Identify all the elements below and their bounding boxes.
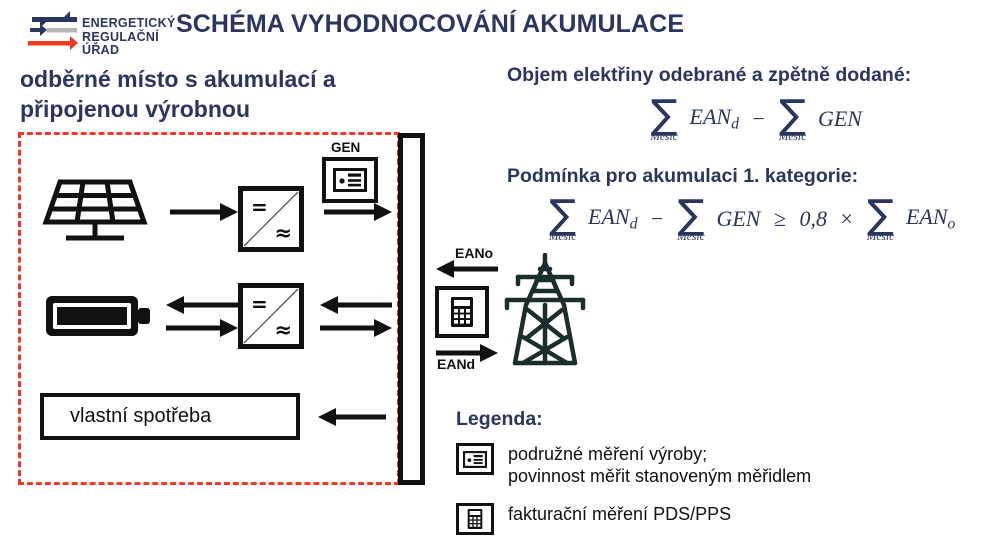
sum-sigma-glyph: ∑ bbox=[779, 95, 806, 135]
ean-o-base: EAN bbox=[906, 204, 948, 229]
inverter-dc-symbol: = bbox=[251, 195, 268, 219]
volume-heading: Objem elektřiny odebrané a zpětně dodané… bbox=[507, 64, 911, 87]
term-ean-d: EANd bbox=[687, 104, 742, 133]
legend-item-label: podružné měření výroby; povinnost měřit … bbox=[508, 443, 811, 487]
ean-d-base: EAN bbox=[588, 204, 630, 229]
condition-heading: Podmínka pro akumulaci 1. kategorie: bbox=[507, 165, 858, 188]
gen-label: GEN bbox=[331, 140, 360, 155]
ean-d-subscript: d bbox=[731, 116, 739, 133]
sum-symbol: ∑ Měsíc bbox=[647, 97, 681, 141]
legend-item-label: fakturační měření PDS/PPS bbox=[508, 503, 731, 525]
logo-line-1: ENERGETICKÝ bbox=[82, 17, 176, 31]
solar-panel-icon bbox=[40, 178, 150, 246]
connection-point-bar bbox=[398, 133, 425, 485]
diagram-heading: odběrné místo s akumulací a připojenou v… bbox=[20, 64, 440, 124]
eru-logo: ENERGETICKÝ REGULAČNÍ ÚŘAD bbox=[14, 8, 164, 56]
formula-volume: ∑ Měsíc EANd − ∑ Měsíc GEN bbox=[647, 97, 865, 141]
sum-sigma-glyph: ∑ bbox=[867, 195, 894, 235]
logo-line-2: REGULAČNÍ bbox=[82, 31, 176, 45]
own-consumption-label: vlastní spotřeba bbox=[70, 405, 211, 428]
slide-canvas: ENERGETICKÝ REGULAČNÍ ÚŘAD SCHÉMA VYHODN… bbox=[0, 0, 1000, 544]
sum-subscript: Měsíc bbox=[677, 231, 704, 243]
operator-minus: − bbox=[748, 106, 770, 132]
term-ean-d: EANd bbox=[585, 204, 640, 233]
legend-item-submeter: podružné měření výroby; povinnost měřit … bbox=[456, 443, 811, 487]
inverter-dc-symbol: = bbox=[251, 292, 268, 316]
submeter-icon bbox=[456, 443, 494, 475]
coefficient-value: 0,8 bbox=[797, 206, 831, 232]
battery-icon bbox=[44, 292, 152, 340]
billing-meter-icon bbox=[456, 503, 494, 535]
arrows-battery-inverter bbox=[164, 293, 240, 339]
legend-title: Legenda: bbox=[456, 408, 543, 431]
legend-item-billing-meter: fakturační měření PDS/PPS bbox=[456, 503, 731, 535]
operator-minus: − bbox=[646, 206, 668, 232]
inverter-pv-icon: = ≈ bbox=[238, 186, 304, 252]
calculator-glyph bbox=[467, 508, 483, 530]
arrow-inverter-to-grid bbox=[322, 200, 394, 224]
transmission-tower-icon bbox=[497, 253, 593, 368]
sum-sigma-glyph: ∑ bbox=[549, 195, 576, 235]
billing-meter-icon bbox=[435, 286, 489, 338]
own-consumption-box: vlastní spotřeba bbox=[40, 393, 300, 440]
sum-sigma-glyph: ∑ bbox=[651, 95, 678, 135]
page-title: SCHÉMA VYHODNOCOVÁNÍ AKUMULACE bbox=[176, 10, 684, 39]
sum-subscript: Měsíc bbox=[867, 231, 894, 243]
arrow-grid-to-consumption bbox=[316, 405, 388, 429]
ean-o-subscript: o bbox=[948, 216, 956, 233]
inverter-battery-icon: = ≈ bbox=[238, 283, 304, 349]
term-gen: GEN bbox=[815, 106, 865, 132]
term-ean-o: EANo bbox=[903, 204, 958, 233]
sum-subscript: Měsíc bbox=[549, 231, 576, 243]
inverter-ac-symbol: ≈ bbox=[274, 221, 292, 245]
eru-logo-text: ENERGETICKÝ REGULAČNÍ ÚŘAD bbox=[82, 17, 176, 58]
formula-condition: ∑ Měsíc EANd − ∑ Měsíc GEN ≥ 0,8 × ∑ Měs… bbox=[546, 197, 959, 241]
ean-d-subscript: d bbox=[630, 216, 638, 233]
ean-in-label: EANd bbox=[437, 356, 475, 372]
sum-symbol: ∑ Měsíc bbox=[674, 197, 708, 241]
arrow-panel-to-inverter bbox=[168, 200, 240, 224]
sum-sigma-glyph: ∑ bbox=[677, 195, 704, 235]
ean-d-base: EAN bbox=[690, 104, 732, 129]
sum-symbol: ∑ Měsíc bbox=[546, 197, 580, 241]
term-gen: GEN bbox=[713, 206, 763, 232]
operator-times: × bbox=[836, 206, 858, 232]
sum-subscript: Měsíc bbox=[779, 131, 806, 143]
operator-geq: ≥ bbox=[769, 206, 791, 232]
arrows-inverter-grid bbox=[318, 293, 394, 339]
submeter-glyph bbox=[463, 451, 487, 468]
logo-line-3: ÚŘAD bbox=[82, 44, 176, 58]
arrow-export-ean-o bbox=[434, 258, 500, 280]
gen-submeter-icon bbox=[322, 157, 378, 203]
calculator-glyph bbox=[450, 296, 474, 328]
sum-symbol: ∑ Měsíc bbox=[775, 97, 809, 141]
inverter-ac-symbol: ≈ bbox=[274, 318, 292, 342]
submeter-glyph bbox=[333, 168, 367, 192]
sum-subscript: Měsíc bbox=[650, 131, 677, 143]
sum-symbol: ∑ Měsíc bbox=[863, 197, 897, 241]
